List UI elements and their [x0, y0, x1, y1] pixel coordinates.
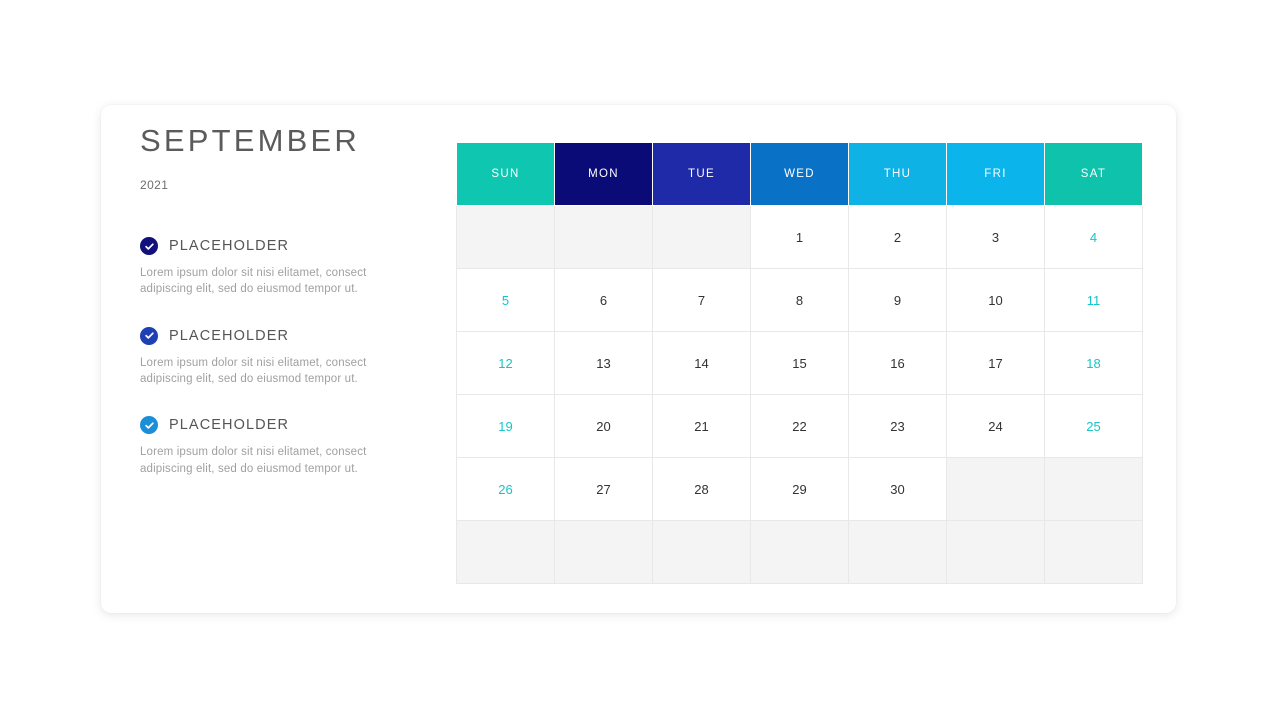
feature-description: Lorem ipsum dolor sit nisi elitamet, con…	[140, 355, 408, 388]
calendar-day-cell[interactable]: 21	[653, 395, 751, 458]
check-circle-icon	[140, 327, 158, 345]
calendar-cell-empty	[849, 521, 947, 584]
calendar-week-row: 12131415161718	[457, 332, 1143, 395]
calendar-day-cell[interactable]: 5	[457, 269, 555, 332]
calendar-day-cell[interactable]: 23	[849, 395, 947, 458]
feature-list: PLACEHOLDERLorem ipsum dolor sit nisi el…	[140, 237, 460, 477]
calendar-day-cell[interactable]: 11	[1045, 269, 1143, 332]
day-header-wed: WED	[751, 143, 849, 206]
calendar-card: SEPTEMBER 2021 PLACEHOLDERLorem ipsum do…	[101, 105, 1176, 613]
calendar-day-cell[interactable]: 19	[457, 395, 555, 458]
calendar-day-cell[interactable]: 2	[849, 206, 947, 269]
calendar-day-cell[interactable]: 25	[1045, 395, 1143, 458]
calendar-day-cell[interactable]: 7	[653, 269, 751, 332]
calendar-cell-empty	[1045, 458, 1143, 521]
calendar-day-cell[interactable]: 28	[653, 458, 751, 521]
calendar-day-cell[interactable]: 6	[555, 269, 653, 332]
calendar-day-cell[interactable]: 10	[947, 269, 1045, 332]
check-circle-icon	[140, 416, 158, 434]
check-circle-icon	[140, 237, 158, 255]
calendar-table: SUNMONTUEWEDTHUFRISAT 123456789101112131…	[456, 142, 1143, 584]
day-header-tue: TUE	[653, 143, 751, 206]
calendar-day-cell[interactable]: 13	[555, 332, 653, 395]
feature-header: PLACEHOLDER	[140, 237, 460, 255]
calendar-cell-empty	[555, 521, 653, 584]
day-header-fri: FRI	[947, 143, 1045, 206]
calendar-week-row: 1234	[457, 206, 1143, 269]
feature-title: PLACEHOLDER	[169, 328, 289, 344]
calendar-day-cell[interactable]: 30	[849, 458, 947, 521]
feature-header: PLACEHOLDER	[140, 327, 460, 345]
calendar-day-cell[interactable]: 26	[457, 458, 555, 521]
calendar-day-cell[interactable]: 12	[457, 332, 555, 395]
calendar-cell-empty	[1045, 521, 1143, 584]
calendar-day-cell[interactable]: 29	[751, 458, 849, 521]
year-label: 2021	[140, 178, 460, 192]
calendar-day-cell[interactable]: 24	[947, 395, 1045, 458]
day-header-sun: SUN	[457, 143, 555, 206]
day-header-sat: SAT	[1045, 143, 1143, 206]
calendar-day-cell[interactable]: 1	[751, 206, 849, 269]
calendar-body: 1234567891011121314151617181920212223242…	[457, 206, 1143, 584]
day-header-thu: THU	[849, 143, 947, 206]
calendar-week-row: 567891011	[457, 269, 1143, 332]
calendar-cell-empty	[653, 521, 751, 584]
calendar-cell-empty	[947, 521, 1045, 584]
feature-description: Lorem ipsum dolor sit nisi elitamet, con…	[140, 265, 408, 298]
calendar-cell-empty	[457, 521, 555, 584]
calendar-day-cell[interactable]: 16	[849, 332, 947, 395]
calendar-day-cell[interactable]: 20	[555, 395, 653, 458]
feature-item: PLACEHOLDERLorem ipsum dolor sit nisi el…	[140, 237, 460, 298]
day-header-mon: MON	[555, 143, 653, 206]
calendar-week-row	[457, 521, 1143, 584]
left-panel: SEPTEMBER 2021 PLACEHOLDERLorem ipsum do…	[140, 125, 460, 477]
calendar-day-cell[interactable]: 15	[751, 332, 849, 395]
calendar-day-cell[interactable]: 14	[653, 332, 751, 395]
calendar-grid: SUNMONTUEWEDTHUFRISAT 123456789101112131…	[456, 142, 1143, 584]
calendar-day-cell[interactable]: 4	[1045, 206, 1143, 269]
feature-title: PLACEHOLDER	[169, 238, 289, 254]
feature-item: PLACEHOLDERLorem ipsum dolor sit nisi el…	[140, 416, 460, 477]
calendar-cell-empty	[457, 206, 555, 269]
calendar-day-cell[interactable]: 3	[947, 206, 1045, 269]
calendar-day-cell[interactable]: 17	[947, 332, 1045, 395]
calendar-week-row: 2627282930	[457, 458, 1143, 521]
calendar-week-row: 19202122232425	[457, 395, 1143, 458]
calendar-cell-empty	[947, 458, 1045, 521]
feature-header: PLACEHOLDER	[140, 416, 460, 434]
feature-item: PLACEHOLDERLorem ipsum dolor sit nisi el…	[140, 327, 460, 388]
feature-title: PLACEHOLDER	[169, 417, 289, 433]
calendar-day-cell[interactable]: 9	[849, 269, 947, 332]
calendar-cell-empty	[555, 206, 653, 269]
calendar-day-cell[interactable]: 27	[555, 458, 653, 521]
calendar-day-cell[interactable]: 8	[751, 269, 849, 332]
calendar-header-row: SUNMONTUEWEDTHUFRISAT	[457, 143, 1143, 206]
calendar-cell-empty	[751, 521, 849, 584]
calendar-day-cell[interactable]: 22	[751, 395, 849, 458]
feature-description: Lorem ipsum dolor sit nisi elitamet, con…	[140, 444, 408, 477]
calendar-cell-empty	[653, 206, 751, 269]
calendar-day-cell[interactable]: 18	[1045, 332, 1143, 395]
month-title: SEPTEMBER	[140, 125, 460, 156]
slide-canvas: SEPTEMBER 2021 PLACEHOLDERLorem ipsum do…	[0, 0, 1280, 720]
